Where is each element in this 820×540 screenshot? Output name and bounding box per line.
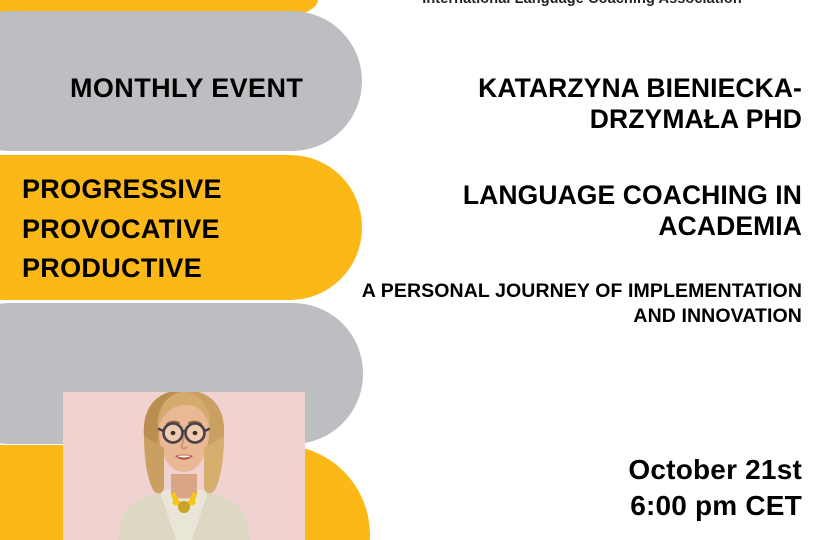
talk-title: LANGUAGE COACHING IN ACADEMIA bbox=[370, 180, 802, 242]
speaker-portrait bbox=[63, 392, 305, 540]
organization-name: International Language Coaching Associat… bbox=[362, 0, 802, 7]
event-datetime: October 21st 6:00 pm CET bbox=[370, 452, 802, 524]
talk-subtitle: A PERSONAL JOURNEY OF IMPLEMENTATION AND… bbox=[350, 279, 802, 330]
flyer-text-column: International Language Coaching Associat… bbox=[360, 0, 820, 540]
event-flyer: MONTHLY EVENT PROGRESSIVE PROVOCATIVE PR… bbox=[0, 0, 820, 540]
tagline-badge: PROGRESSIVE PROVOCATIVE PRODUCTIVE bbox=[22, 170, 222, 289]
speaker-name: KATARZYNA BIENIECKA-DRZYMAŁA PHD bbox=[370, 73, 802, 135]
monthly-event-badge: MONTHLY EVENT bbox=[70, 73, 303, 105]
